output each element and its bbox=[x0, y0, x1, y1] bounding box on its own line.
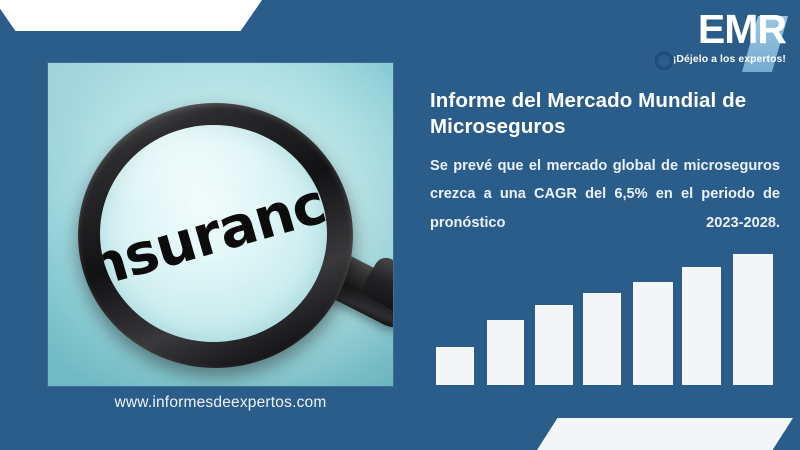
chart-bar bbox=[487, 320, 524, 385]
chart-bar bbox=[633, 282, 673, 385]
chart-bar bbox=[583, 293, 621, 385]
decorative-banner-bottom-right bbox=[537, 418, 793, 450]
chart-bar bbox=[682, 267, 721, 385]
hero-image-panel: Insurance bbox=[48, 63, 393, 386]
page-title: Informe del Mercado Mundial de Microsegu… bbox=[430, 88, 778, 140]
emr-logo[interactable]: EMR ¡Déjelo a los expertos! bbox=[650, 8, 790, 76]
chart-bar bbox=[733, 254, 773, 385]
logo-circle-icon bbox=[654, 51, 674, 71]
magnifier-lens: Insurance bbox=[100, 125, 327, 342]
growth-bar-chart bbox=[430, 240, 778, 385]
lens-word-text: Insurance bbox=[100, 161, 327, 307]
magnifier-ring-icon: Insurance bbox=[78, 103, 353, 368]
emr-wordmark: EMR bbox=[698, 8, 786, 51]
emr-tagline: ¡Déjelo a los expertos! bbox=[673, 54, 786, 65]
chart-bar bbox=[535, 305, 573, 385]
chart-bar bbox=[436, 347, 474, 385]
decorative-banner-top-left bbox=[0, 0, 262, 31]
site-url-caption: www.informesdeexpertos.com bbox=[48, 394, 393, 412]
